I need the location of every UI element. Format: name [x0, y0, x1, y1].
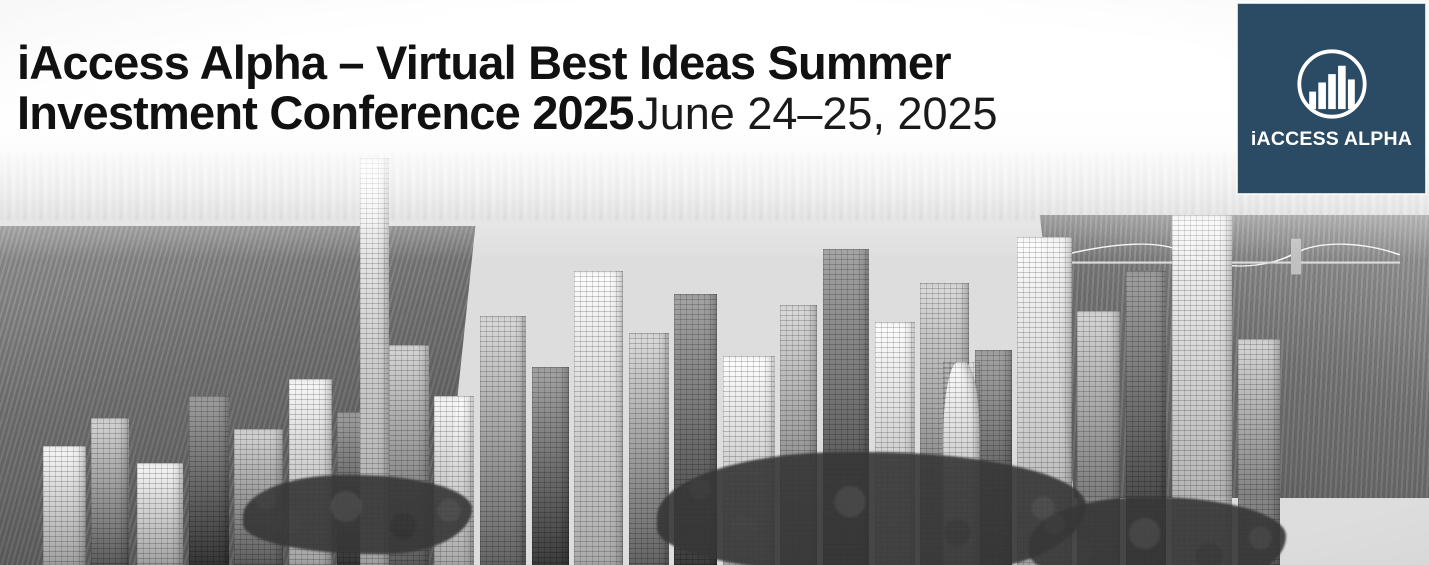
building-block	[480, 316, 526, 565]
logo-wordmark: iACCESS ALPHA	[1251, 128, 1412, 151]
building-block	[532, 367, 569, 565]
banner-headline: iAccess Alpha – Virtual Best Ideas Summe…	[17, 38, 1167, 138]
building-block	[574, 271, 623, 565]
bar-chart-in-circle-icon	[1294, 46, 1370, 122]
building-block	[43, 446, 86, 565]
conference-banner: iAccess Alpha – Virtual Best Ideas Summe…	[0, 0, 1429, 565]
park-trees	[243, 475, 472, 554]
iaccess-alpha-logo[interactable]: iACCESS ALPHA	[1237, 3, 1426, 194]
conference-dates: June 24–25, 2025	[637, 88, 997, 139]
battery-park-trees	[657, 452, 1086, 565]
building-block	[189, 396, 229, 565]
distant-haze-band	[0, 153, 1429, 221]
building-block	[137, 463, 183, 565]
building-block	[91, 418, 128, 565]
